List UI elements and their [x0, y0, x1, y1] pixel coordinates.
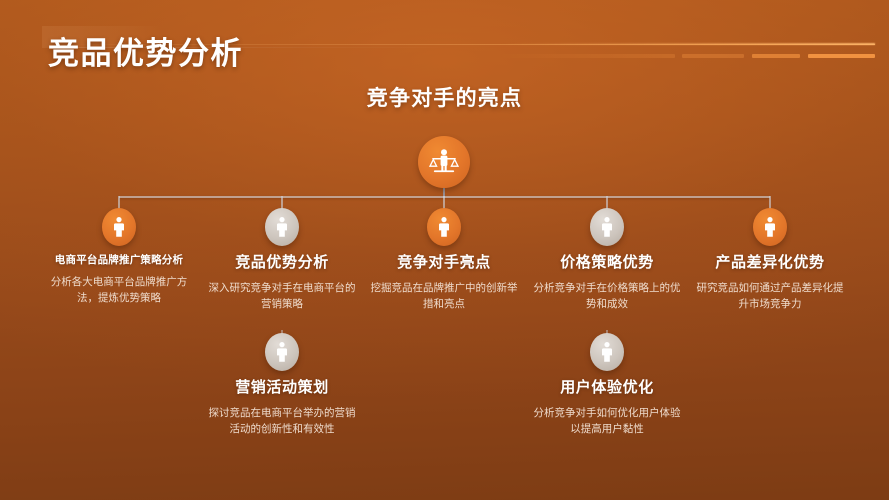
node-heading: 竞争对手亮点	[358, 254, 530, 273]
person-icon	[753, 208, 787, 246]
header-dash-group	[500, 54, 875, 58]
node-heading: 营销活动策划	[196, 379, 368, 398]
chart-title: 竞争对手的亮点	[0, 82, 889, 112]
node-heading: 价格策略优势	[521, 254, 693, 273]
node-heading: 竞品优势分析	[196, 254, 368, 273]
node-body: 探讨竞品在电商平台举办的营销活动的创新性和有效性	[196, 405, 368, 438]
root-node[interactable]	[418, 136, 470, 188]
node-row1-5[interactable]: 产品差异化优势 研究竞品如何通过产品差异化提升市场竞争力	[684, 208, 856, 312]
node-heading: 用户体验优化	[521, 379, 693, 398]
person-icon	[265, 208, 299, 246]
node-body: 分析各大电商平台品牌推广方法，提炼优势策略	[33, 274, 205, 307]
header-dash-3	[752, 54, 800, 58]
person-icon	[590, 333, 624, 371]
node-row2-1[interactable]: 营销活动策划 探讨竞品在电商平台举办的营销活动的创新性和有效性	[196, 333, 368, 437]
header-dash-2	[682, 54, 744, 58]
node-body: 深入研究竞争对手在电商平台的营销策略	[196, 280, 368, 313]
node-body: 分析竞争对手如何优化用户体验以提高用户黏性	[521, 405, 693, 438]
node-heading: 电商平台品牌推广策略分析	[33, 254, 205, 267]
person-icon	[265, 333, 299, 371]
node-body: 研究竞品如何通过产品差异化提升市场竞争力	[684, 280, 856, 313]
header-accent-line-glow	[500, 43, 875, 45]
header-dash-1	[500, 54, 675, 58]
node-heading: 产品差异化优势	[684, 254, 856, 273]
node-row1-2[interactable]: 竞品优势分析 深入研究竞争对手在电商平台的营销策略	[196, 208, 368, 312]
node-body: 挖掘竞品在品牌推广中的创新举措和亮点	[358, 280, 530, 313]
person-icon	[590, 208, 624, 246]
person-icon	[427, 208, 461, 246]
node-row1-4[interactable]: 价格策略优势 分析竞争对手在价格策略上的优势和成效	[521, 208, 693, 312]
connector-horizontal-bus	[119, 196, 770, 198]
node-row2-2[interactable]: 用户体验优化 分析竞争对手如何优化用户体验以提高用户黏性	[521, 333, 693, 437]
slide-title: 竞品优势分析	[48, 28, 243, 73]
person-with-scales-icon	[418, 136, 470, 188]
header-dash-4	[808, 54, 875, 58]
slide-canvas: 竞品优势分析 竞争对手的亮点	[0, 0, 889, 500]
node-body: 分析竞争对手在价格策略上的优势和成效	[521, 280, 693, 313]
node-row1-1[interactable]: 电商平台品牌推广策略分析 分析各大电商平台品牌推广方法，提炼优势策略	[33, 208, 205, 307]
node-row1-3[interactable]: 竞争对手亮点 挖掘竞品在品牌推广中的创新举措和亮点	[358, 208, 530, 312]
person-icon	[102, 208, 136, 246]
